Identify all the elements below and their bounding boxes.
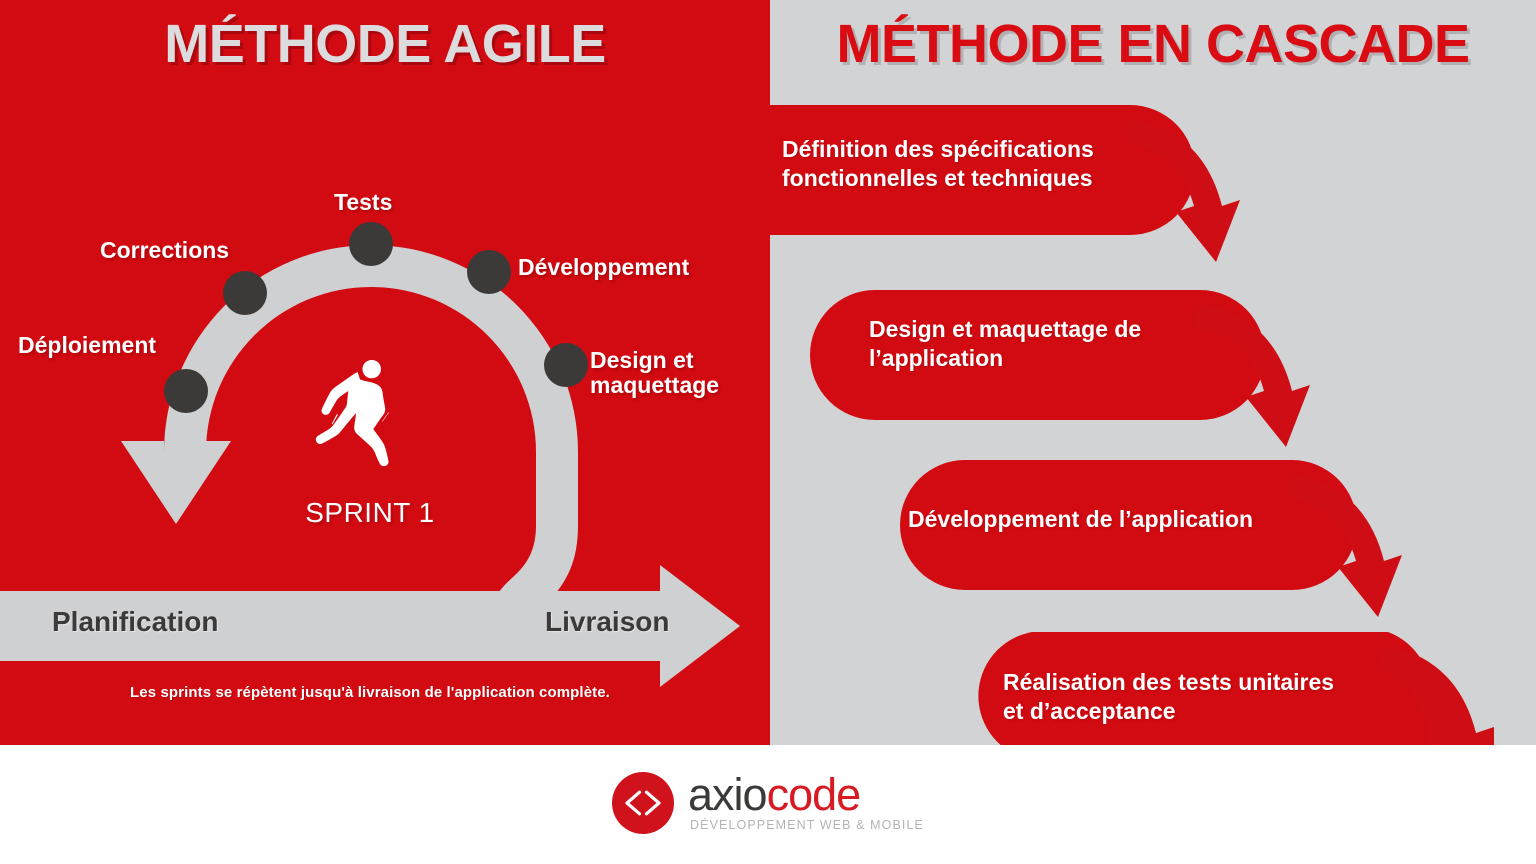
running-person-icon xyxy=(316,360,389,466)
cycle-label-deploiement: Déploiement xyxy=(18,333,156,358)
footer-bar: axiocode DÉVELOPPEMENT WEB & MOBILE xyxy=(0,745,1536,864)
waterfall-step-label-4: Réalisation des tests unitaires et d’acc… xyxy=(1003,668,1423,727)
infographic-canvas: MÉTHODE AGILE xyxy=(0,0,1536,864)
cycle-label-design: Design et maquettage xyxy=(590,348,719,398)
dot-tests xyxy=(349,222,393,266)
cycle-label-corrections: Corrections xyxy=(100,238,229,263)
logo-word-axio: axio xyxy=(688,769,767,820)
agile-panel: MÉTHODE AGILE xyxy=(0,0,770,745)
dot-corrections xyxy=(223,271,267,315)
band-label-livraison: Livraison xyxy=(545,606,669,638)
waterfall-step-label-1: Définition des spécifications fonctionne… xyxy=(782,135,1172,194)
dot-design xyxy=(544,343,588,387)
axiocode-logo: axiocode DÉVELOPPEMENT WEB & MOBILE xyxy=(612,772,924,834)
cycle-label-developpement: Développement xyxy=(518,255,689,280)
cycle-label-tests: Tests xyxy=(334,190,392,215)
waterfall-step-label-3: Développement de l’application xyxy=(908,505,1348,534)
code-brackets-icon xyxy=(612,772,674,834)
sprint-label: SPRINT 1 xyxy=(0,497,740,529)
agile-footnote: Les sprints se répètent jusqu'à livraiso… xyxy=(0,684,740,701)
logo-tagline: DÉVELOPPEMENT WEB & MOBILE xyxy=(690,818,924,832)
logo-word-code: code xyxy=(767,769,861,820)
logo-text-block: axiocode DÉVELOPPEMENT WEB & MOBILE xyxy=(688,773,924,832)
logo-wordmark: axiocode xyxy=(688,773,924,816)
dot-deploiement xyxy=(164,369,208,413)
band-label-planification: Planification xyxy=(52,606,218,638)
dot-developpement xyxy=(467,250,511,294)
waterfall-step-label-2: Design et maquettage de l’application xyxy=(869,315,1229,374)
waterfall-step-shape-3 xyxy=(900,460,1402,617)
